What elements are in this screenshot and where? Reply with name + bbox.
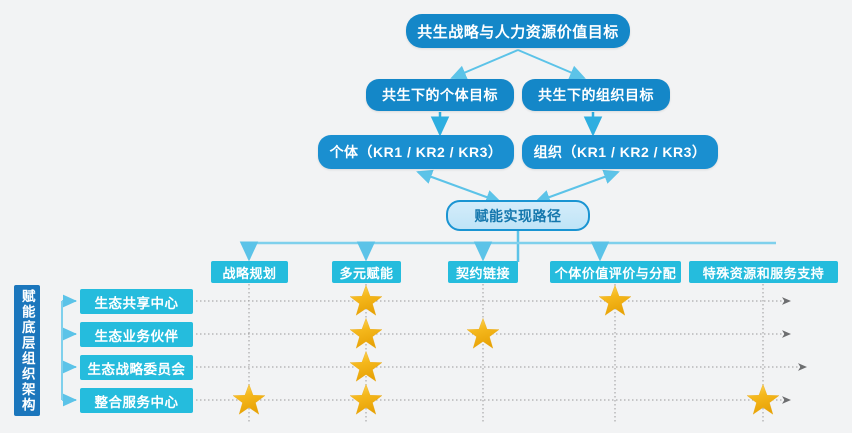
node-individual-goal-label: 共生下的个体目标 — [382, 85, 498, 105]
node-top-goal[interactable]: 共生战略与人力资源价值目标 — [406, 14, 630, 48]
row-label-eco-strategy-committee-text: 生态战略委员会 — [88, 358, 186, 378]
row-label-eco-business-partner[interactable]: 生态业务伙伴 — [80, 322, 193, 347]
column-header-multi-enablement-label: 多元赋能 — [339, 263, 393, 282]
column-header-special-resources-label: 特殊资源和服务支持 — [703, 263, 825, 282]
row-label-integrated-service-center-text: 整合服务中心 — [95, 391, 179, 411]
side-label-text: 赋能底层组织架构 — [20, 289, 34, 413]
node-organization-kr[interactable]: 组织（KR1 / KR2 / KR3） — [522, 135, 718, 169]
column-header-value-evaluation[interactable]: 个体价值评价与分配 — [550, 261, 681, 283]
node-top-goal-label: 共生战略与人力资源价值目标 — [417, 21, 619, 42]
column-header-contract-link[interactable]: 契约链接 — [448, 261, 518, 283]
side-label-org-architecture: 赋能底层组织架构 — [14, 285, 40, 416]
column-header-special-resources[interactable]: 特殊资源和服务支持 — [689, 261, 838, 283]
node-enablement-path-label: 赋能实现路径 — [475, 206, 562, 226]
row-label-eco-sharing-center[interactable]: 生态共享中心 — [80, 289, 193, 314]
node-individual-goal[interactable]: 共生下的个体目标 — [366, 79, 514, 111]
column-header-strategy-planning-label: 战略规划 — [222, 263, 276, 282]
node-organization-kr-label: 组织（KR1 / KR2 / KR3） — [534, 142, 707, 162]
diagram-canvas: 共生战略与人力资源价值目标 共生下的个体目标 共生下的组织目标 个体（KR1 /… — [0, 0, 852, 433]
node-organization-goal[interactable]: 共生下的组织目标 — [522, 79, 670, 111]
node-enablement-path[interactable]: 赋能实现路径 — [446, 200, 590, 231]
column-header-multi-enablement[interactable]: 多元赋能 — [332, 261, 401, 283]
node-individual-kr-label: 个体（KR1 / KR2 / KR3） — [330, 142, 503, 162]
node-individual-kr[interactable]: 个体（KR1 / KR2 / KR3） — [318, 135, 514, 169]
row-label-eco-business-partner-text: 生态业务伙伴 — [95, 325, 179, 345]
row-label-integrated-service-center[interactable]: 整合服务中心 — [80, 388, 193, 413]
row-label-eco-strategy-committee[interactable]: 生态战略委员会 — [80, 355, 193, 380]
row-label-eco-sharing-center-text: 生态共享中心 — [95, 292, 179, 312]
column-header-value-evaluation-label: 个体价值评价与分配 — [555, 263, 677, 282]
column-header-contract-link-label: 契约链接 — [456, 263, 510, 282]
column-header-strategy-planning[interactable]: 战略规划 — [211, 261, 288, 283]
node-organization-goal-label: 共生下的组织目标 — [538, 85, 654, 105]
